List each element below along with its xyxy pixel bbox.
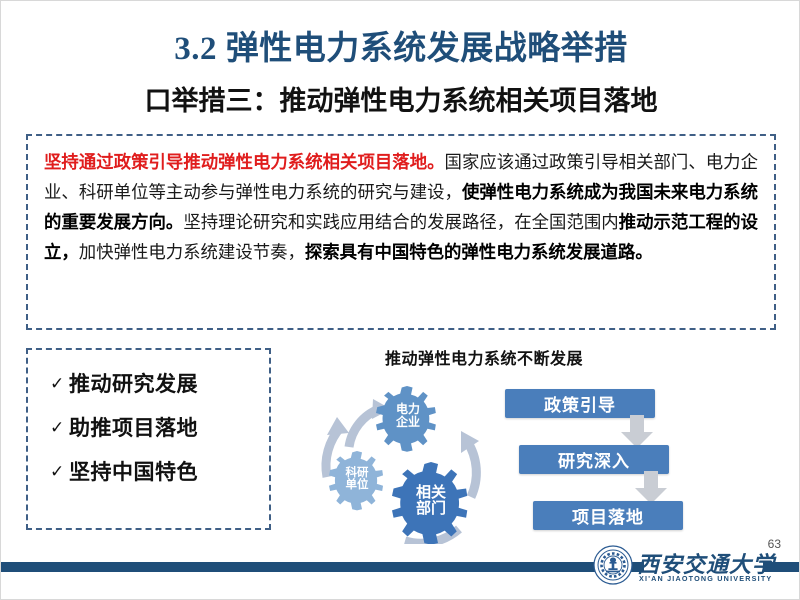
gear-power-enterprise bbox=[376, 386, 436, 452]
list-item-label: 推动研究发展 bbox=[69, 368, 198, 398]
university-logo: 西安交通大学 XI'AN JIAOTONG UNIVERSITY bbox=[593, 541, 763, 591]
logo-text-en: XI'AN JIAOTONG UNIVERSITY bbox=[639, 574, 772, 583]
body-segment-5: 加快弹性电力系统建设节奏， bbox=[79, 242, 305, 262]
list-item: ✓ 坚持中国特色 bbox=[50, 456, 269, 486]
bullet-list-panel: ✓ 推动研究发展 ✓ 助推项目落地 ✓ 坚持中国特色 bbox=[26, 348, 271, 530]
process-diagram: 推动弹性电力系统不断发展 bbox=[319, 345, 719, 545]
seal-icon bbox=[593, 545, 633, 585]
list-item-label: 助推项目落地 bbox=[69, 412, 198, 442]
gear-cluster: 电力 企业 科研 单位 相关 部门 bbox=[319, 369, 499, 544]
flow-box-project-landing[interactable]: 项目落地 bbox=[533, 501, 683, 530]
body-segment-3: 坚持理论研究和实践应用结合的发展路径，在全国范围内 bbox=[183, 212, 618, 232]
diagram-title: 推动弹性电力系统不断发展 bbox=[319, 345, 649, 369]
list-item-label: 坚持中国特色 bbox=[69, 456, 198, 486]
list-item: ✓ 推动研究发展 bbox=[50, 368, 269, 398]
gear-related-dept bbox=[392, 462, 467, 544]
gear-cluster-svg bbox=[319, 369, 499, 544]
body-text-panel: 坚持通过政策引导推动弹性电力系统相关项目落地。国家应该通过政策引导相关部门、电力… bbox=[26, 134, 776, 330]
page-title: 3.2 弹性电力系统发展战略举措 bbox=[1, 31, 800, 69]
check-icon: ✓ bbox=[50, 419, 69, 436]
body-segment-0: 坚持通过政策引导推动弹性电力系统相关项目落地。 bbox=[44, 152, 445, 172]
body-segment-6: 探索具有中国特色的弹性电力系统发展道路。 bbox=[305, 242, 653, 262]
footer-bar-left bbox=[1, 562, 644, 572]
list-item: ✓ 助推项目落地 bbox=[50, 412, 269, 442]
gear-research-unit bbox=[329, 451, 383, 510]
page-subtitle: 口举措三：推动弹性电力系统相关项目落地 bbox=[1, 86, 800, 117]
slide-canvas: 3.2 弹性电力系统发展战略举措 口举措三：推动弹性电力系统相关项目落地 坚持通… bbox=[0, 0, 800, 600]
check-icon: ✓ bbox=[50, 463, 69, 480]
flow-box-policy-guidance[interactable]: 政策引导 bbox=[505, 389, 655, 418]
check-icon: ✓ bbox=[50, 375, 69, 392]
body-paragraph: 坚持通过政策引导推动弹性电力系统相关项目落地。国家应该通过政策引导相关部门、电力… bbox=[44, 148, 758, 268]
flow-box-research-deepening[interactable]: 研究深入 bbox=[519, 445, 669, 474]
